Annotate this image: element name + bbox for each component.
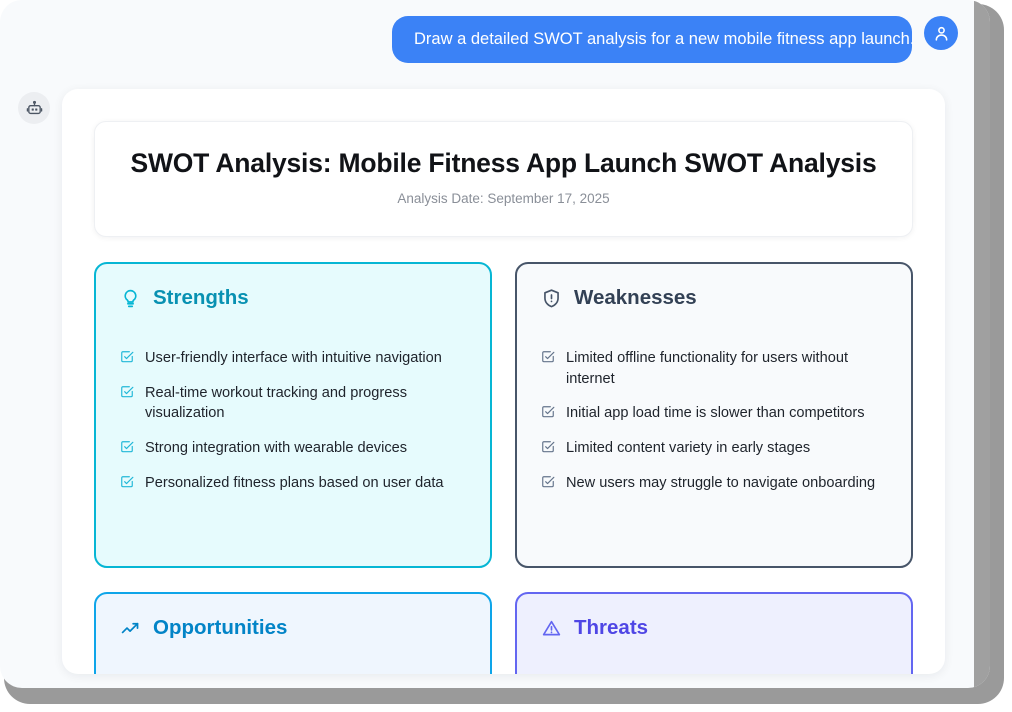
user-message-row: Draw a detailed SWOT analysis for a new … (0, 16, 974, 63)
alert-triangle-icon (541, 618, 562, 639)
check-square-icon (541, 475, 555, 489)
list-item-text: Strong integration with wearable devices (145, 438, 407, 459)
list-item: Initial app load time is slower than com… (541, 403, 887, 424)
document-header-card: SWOT Analysis: Mobile Fitness App Launch… (94, 121, 913, 237)
list-item: User-friendly interface with intuitive n… (120, 348, 466, 369)
list-item-text: Real-time workout tracking and progress … (145, 383, 466, 424)
user-message-bubble: Draw a detailed SWOT analysis for a new … (392, 16, 912, 63)
list-item-text: Limited content variety in early stages (566, 438, 810, 459)
page-title: SWOT Analysis: Mobile Fitness App Launch… (119, 148, 888, 179)
quadrant-strengths: Strengths User-friendly interface with i… (94, 262, 492, 568)
list-item: Limited offline functionality for users … (541, 348, 887, 389)
app-window: Draw a detailed SWOT analysis for a new … (0, 0, 990, 688)
lightbulb-icon (120, 288, 141, 309)
swot-quadrant-grid: Strengths User-friendly interface with i… (94, 262, 913, 674)
list-item-text: User-friendly interface with intuitive n… (145, 348, 442, 369)
quadrant-weaknesses: Weaknesses Limited offline functionality… (515, 262, 913, 568)
swot-document: SWOT Analysis: Mobile Fitness App Launch… (62, 89, 945, 674)
quadrant-list-weaknesses: Limited offline functionality for users … (541, 348, 887, 494)
vertical-scrollbar[interactable] (974, 0, 990, 688)
check-square-icon (541, 350, 555, 364)
check-square-icon (541, 405, 555, 419)
check-square-icon (120, 440, 134, 454)
list-item-text: Limited offline functionality for users … (566, 348, 887, 389)
quadrant-list-strengths: User-friendly interface with intuitive n… (120, 348, 466, 494)
check-square-icon (120, 350, 134, 364)
quadrant-title-strengths: Strengths (153, 286, 249, 310)
assistant-avatar (18, 92, 50, 124)
swot-artifact-panel: SWOT Analysis: Mobile Fitness App Launch… (62, 89, 945, 674)
quadrant-header-opportunities: Opportunities (120, 616, 466, 640)
list-item: Real-time workout tracking and progress … (120, 383, 466, 424)
check-square-icon (120, 385, 134, 399)
shield-alert-icon (541, 288, 562, 309)
quadrant-header-weaknesses: Weaknesses (541, 286, 887, 310)
user-avatar (924, 16, 958, 50)
quadrant-header-threats: Threats (541, 616, 887, 640)
quadrant-title-opportunities: Opportunities (153, 616, 287, 640)
check-square-icon (541, 440, 555, 454)
quadrant-header-strengths: Strengths (120, 286, 466, 310)
list-item-text: Personalized fitness plans based on user… (145, 473, 444, 494)
quadrant-title-weaknesses: Weaknesses (574, 286, 697, 310)
list-item-text: New users may struggle to navigate onboa… (566, 473, 875, 494)
user-icon (932, 24, 951, 43)
list-item: Strong integration with wearable devices (120, 438, 466, 459)
trending-up-icon (120, 618, 141, 639)
device-frame: Draw a detailed SWOT analysis for a new … (0, 0, 1012, 712)
list-item: Personalized fitness plans based on user… (120, 473, 466, 494)
robot-icon (26, 100, 43, 117)
quadrant-opportunities: Opportunities (94, 592, 492, 674)
chat-scroll-area[interactable]: Draw a detailed SWOT analysis for a new … (0, 0, 974, 688)
list-item: New users may struggle to navigate onboa… (541, 473, 887, 494)
check-square-icon (120, 475, 134, 489)
quadrant-threats: Threats (515, 592, 913, 674)
analysis-date: Analysis Date: September 17, 2025 (119, 191, 888, 206)
list-item: Limited content variety in early stages (541, 438, 887, 459)
quadrant-title-threats: Threats (574, 616, 648, 640)
list-item-text: Initial app load time is slower than com… (566, 403, 865, 424)
